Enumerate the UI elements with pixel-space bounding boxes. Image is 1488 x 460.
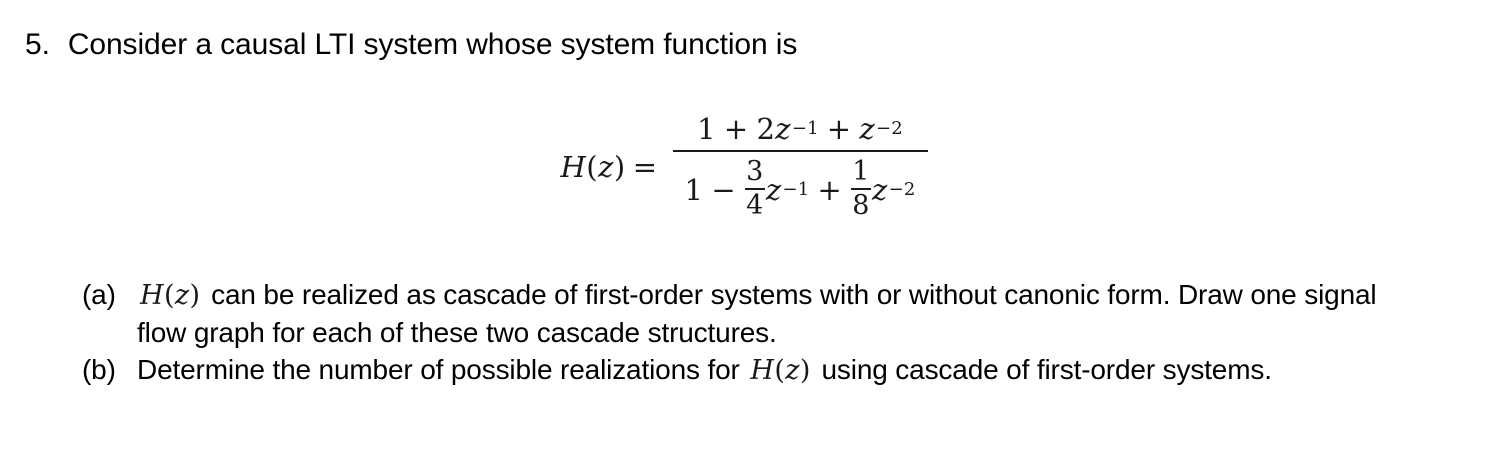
subitem-b-body: Determine the number of possible realiza…: [137, 351, 1412, 389]
subitem-a-marker: (a): [82, 276, 137, 313]
subitem-a-math-close-paren: ): [190, 280, 201, 311]
main-fraction: 1+2z−1+z−2 1−34z−1+18z−2: [673, 112, 928, 222]
problem-number: 5.: [25, 26, 50, 64]
three-fourths-denominator: 4: [746, 190, 763, 221]
subitem-a-math-function: H: [140, 280, 164, 311]
subitem-b-math-function: H: [750, 355, 774, 386]
numerator-term-2-variable: z: [775, 112, 791, 146]
subitem-a-body: H(z) can be realized as cascade of first…: [137, 276, 1412, 351]
subitem-a-math-open-paren: (: [164, 280, 175, 311]
equation-variable: z: [598, 150, 614, 184]
equation-function-name: H: [561, 150, 587, 184]
numerator-term-3-variable: z: [859, 112, 875, 146]
subitem-b: (b) Determine the number of possible rea…: [82, 351, 1412, 389]
numerator-operator-1: +: [724, 112, 749, 146]
equation-close-paren: ): [614, 150, 626, 184]
one-eighth-numerator: 1: [852, 157, 869, 188]
equation-left-hand-side: H(z)=: [561, 150, 667, 184]
one-eighth-denominator: 8: [852, 190, 869, 221]
denominator-operator-1: −: [711, 173, 736, 207]
denominator-term-2-variable: z: [766, 173, 782, 207]
problem-statement: 5. Consider a causal LTI system whose sy…: [25, 26, 1465, 64]
subitem-a-math-variable: z: [175, 280, 190, 311]
numerator-operator-2: +: [827, 112, 852, 146]
subitem-list: (a) H(z) can be realized as cascade of f…: [82, 276, 1412, 389]
equation-equals-sign: =: [633, 150, 658, 184]
subitem-b-marker: (b): [82, 351, 137, 388]
denominator-term-1: 1: [685, 173, 704, 207]
denominator-term-3-variable: z: [872, 173, 888, 207]
problem-stem-text: Consider a causal LTI system whose syste…: [68, 26, 797, 64]
numerator-term-2-coefficient: 2: [757, 112, 776, 146]
subitem-b-math-open-paren: (: [774, 355, 785, 386]
equation-open-paren: (: [586, 150, 598, 184]
display-equation: H(z)= 1+2z−1+z−2 1−34z−1+18z−2: [0, 112, 1488, 222]
subitem-b-math-variable: z: [785, 355, 800, 386]
subitem-b-text-before: Determine the number of possible realiza…: [137, 354, 740, 385]
fraction-numerator: 1+2z−1+z−2: [685, 112, 915, 150]
subitem-a: (a) H(z) can be realized as cascade of f…: [82, 276, 1412, 351]
denominator-operator-2: +: [817, 173, 842, 207]
three-fourths-numerator: 3: [746, 157, 763, 188]
denominator-fraction-one-eighth: 18: [851, 157, 871, 221]
fraction-denominator: 1−34z−1+18z−2: [673, 152, 928, 222]
subitem-b-math-close-paren: ): [800, 355, 811, 386]
numerator-term-1: 1: [697, 112, 716, 146]
subitem-a-inline-math: H(z): [137, 280, 203, 311]
subitem-b-inline-math: H(z): [747, 355, 813, 386]
subitem-b-text-after: using cascade of first-order systems.: [821, 354, 1271, 385]
subitem-a-text: can be realized as cascade of first-orde…: [137, 279, 1376, 348]
denominator-fraction-three-fourths: 34: [745, 157, 765, 221]
